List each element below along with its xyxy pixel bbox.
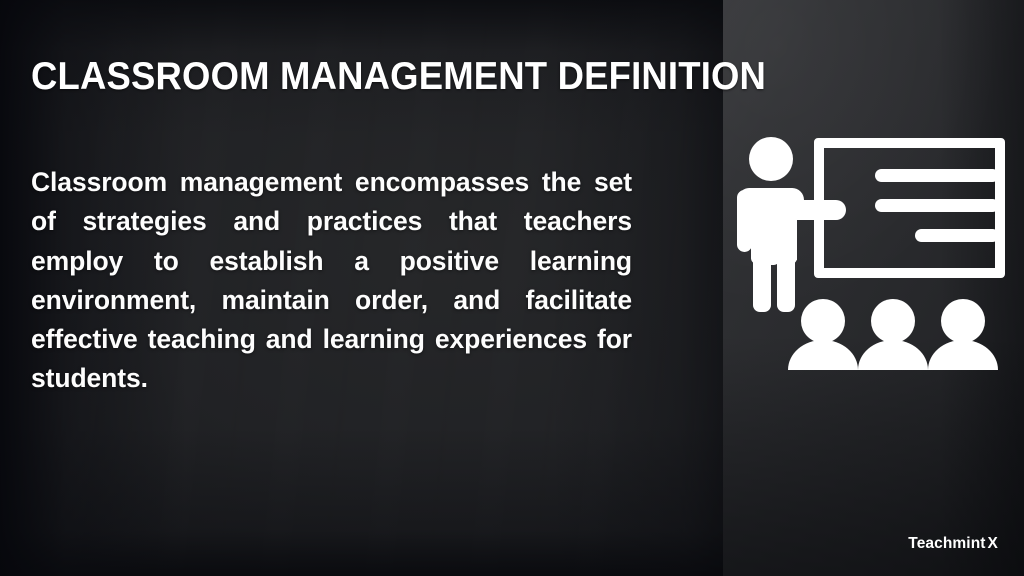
- whiteboard-line-2: [875, 199, 999, 212]
- classroom-teaching-icon: [735, 128, 1013, 370]
- whiteboard-line-3: [915, 229, 999, 242]
- student-figure-3: [928, 299, 998, 370]
- slide-canvas: CLASSROOM MANAGEMENT DEFINITION Classroo…: [0, 0, 1024, 576]
- brand-name: Teachmint: [908, 535, 985, 552]
- definition-paragraph: Classroom management encompasses the set…: [31, 163, 632, 399]
- student-figure-2: [858, 299, 928, 370]
- whiteboard-line-1: [875, 169, 999, 182]
- teacher-figure: [737, 137, 846, 312]
- page-title: CLASSROOM MANAGEMENT DEFINITION: [31, 54, 648, 100]
- brand-mark: X: [988, 535, 998, 552]
- student-figure-1: [788, 299, 858, 370]
- brand-logo: TeachmintX: [908, 535, 998, 553]
